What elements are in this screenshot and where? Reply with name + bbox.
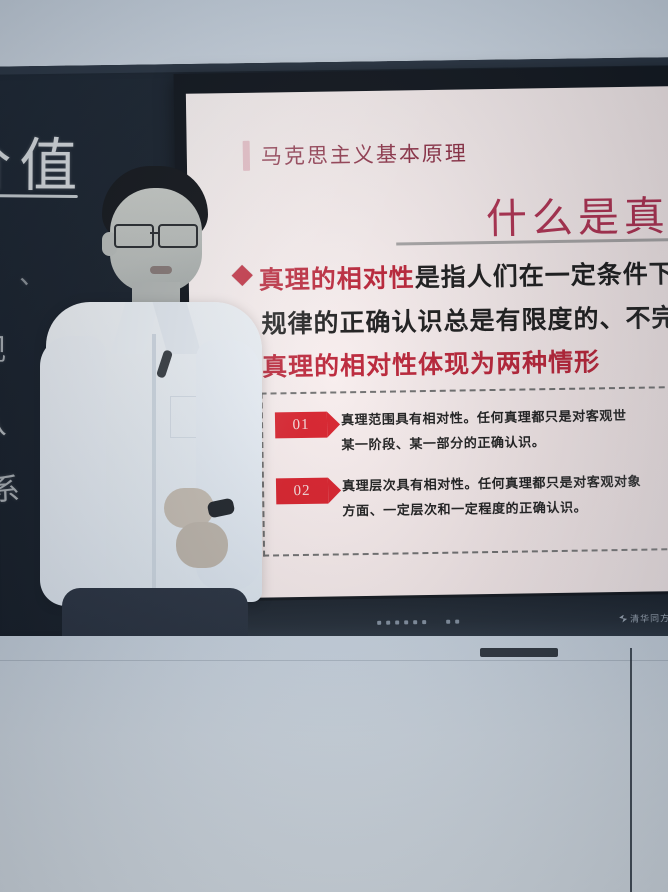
numbered-item-01: 01 真理范围具有相对性。任何真理都只是对客观世 某一阶段、某一部分的正确认识。 (275, 403, 627, 459)
arm-left (40, 336, 106, 606)
indicator-dot (377, 621, 381, 625)
classroom-photo: 价值 、 、 观 认 系 马克思主义基本原理 什么是真理 真理的相对性是指人们在… (0, 0, 668, 892)
item-02-line2: 方面、一定层次和一定程度的正确认识。 (342, 494, 642, 524)
item-02-text: 真理层次具有相对性。任何真理都只是对客观对象 方面、一定层次和一定程度的正确认识… (342, 469, 642, 524)
chalk-text-5: 系 (0, 464, 24, 509)
power-cable (630, 648, 632, 892)
bullet-2-text: 真理的相对性体现为两种情形 (262, 342, 601, 383)
kicker-label: 马克思主义基本原理 (261, 137, 468, 170)
lower-wall (0, 636, 668, 892)
hand-lower (176, 522, 228, 568)
bullet-1-highlight: 真理的相对性 (259, 264, 415, 294)
indicator-dot (446, 620, 450, 624)
item-01-text: 真理范围具有相对性。任何真理都只是对客观世 某一阶段、某一部分的正确认识。 (341, 403, 627, 458)
indicator-dot (395, 621, 399, 625)
item-02-line1: 真理层次具有相对性。任何真理都只是对客观对象 (342, 469, 642, 499)
item-01-line2: 某一阶段、某一部分的正确认识。 (341, 428, 627, 458)
indicator-dot (404, 620, 408, 624)
glasses-icon (114, 224, 202, 244)
brand-name: 清华同方 (630, 611, 668, 625)
indicator-dot (455, 620, 459, 624)
lens-right (158, 224, 198, 248)
mouth (150, 266, 172, 274)
brand-logo: 清华同方 (619, 611, 668, 625)
indicator-dot (413, 620, 417, 624)
chalk-text-4: 认 (0, 397, 11, 443)
slide-kicker: 马克思主义基本原理 (243, 137, 468, 171)
wall-seam (0, 660, 668, 661)
spacer (431, 620, 441, 624)
chalk-text-3: 观 (0, 325, 11, 369)
item-tag-01: 01 (275, 412, 327, 439)
bullet-1-text: 真理的相对性是指人们在一定条件下 (258, 254, 668, 297)
indicator-dot (386, 621, 390, 625)
bullet-item-1: 真理的相对性是指人们在一定条件下 (234, 254, 668, 297)
bullet-item-2: 真理的相对性体现为两种情形 (238, 342, 601, 384)
brand-mark-icon (619, 614, 627, 622)
numbered-item-02: 02 真理层次具有相对性。任何真理都只是对客观对象 方面、一定层次和一定程度的正… (276, 469, 642, 525)
item-01-line1: 真理范围具有相对性。任何真理都只是对客观世 (341, 403, 627, 433)
bullet-2-rest: 体现为两种情形 (418, 348, 600, 379)
glasses-bridge (150, 232, 158, 234)
slide-headline: 什么是真理 (485, 181, 668, 245)
bullet-1-rest: 是指人们在一定条件下 (415, 260, 668, 292)
shirt-placket (152, 334, 156, 596)
numbered-items-box: 01 真理范围具有相对性。任何真理都只是对客观世 某一阶段、某一部分的正确认识。… (261, 386, 668, 557)
indicator-dot (422, 620, 426, 624)
lens-left (114, 224, 154, 248)
display-control-buttons[interactable] (377, 620, 459, 625)
item-tag-02: 02 (276, 478, 328, 505)
bullet-2-highlight: 真理的相对性 (262, 351, 418, 381)
display-port-slot (480, 648, 558, 657)
bullet-1-line2: 规律的正确认识总是有限度的、不完 (261, 298, 668, 341)
